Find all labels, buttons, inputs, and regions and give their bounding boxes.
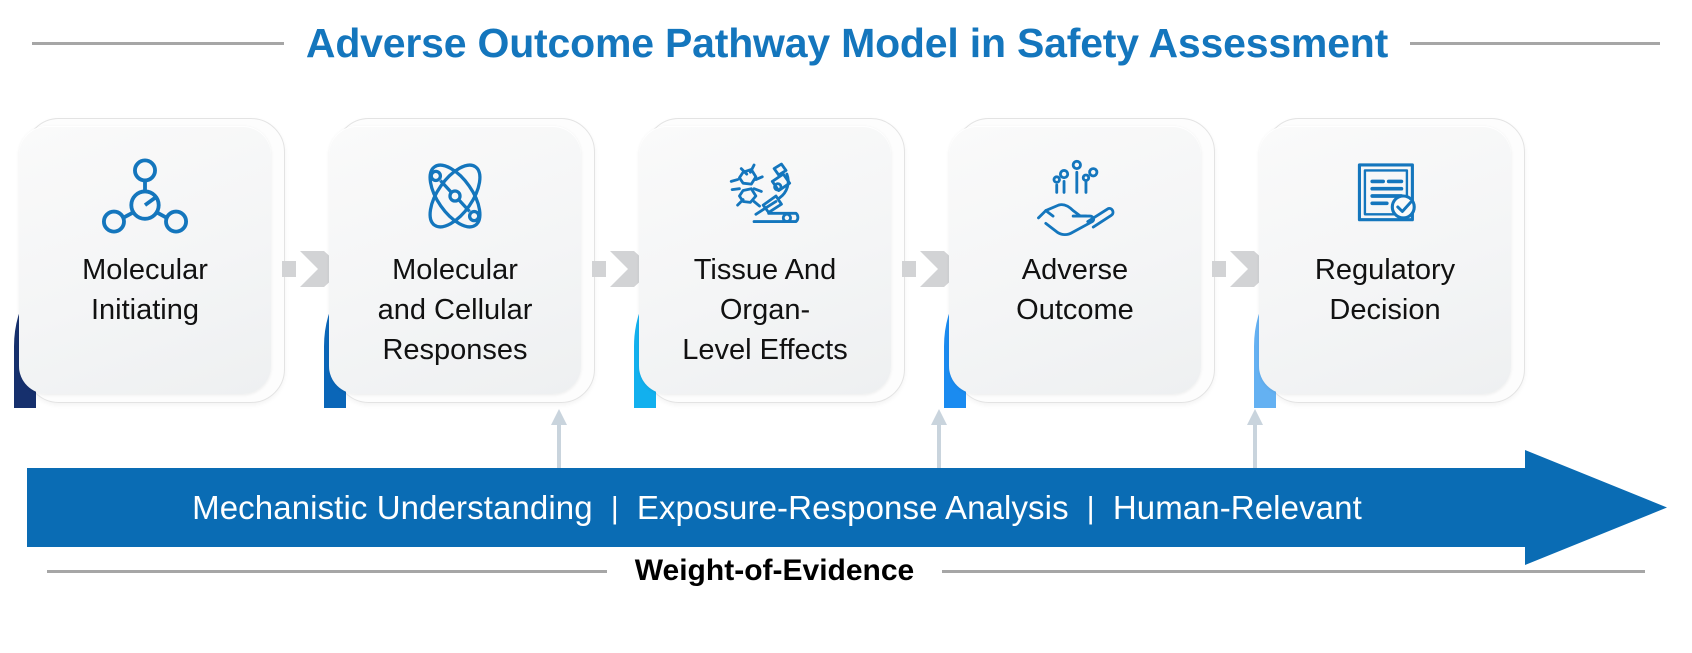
stage-card-regulatory-decision[interactable]: Regulatory Decision (1243, 112, 1526, 408)
microscope-icon (719, 154, 811, 238)
footer-row: Weight-of-Evidence (0, 545, 1692, 597)
page-title: Adverse Outcome Pathway Model in Safety … (306, 23, 1388, 64)
card-label: Molecular and Cellular Responses (347, 250, 563, 370)
certificate-check-icon (1339, 154, 1431, 238)
card-body: Molecular and Cellular Responses (329, 126, 581, 394)
hand-data-icon (1029, 154, 1121, 238)
footer-rule-left (47, 570, 607, 573)
stage-card-adverse-outcome[interactable]: Adverse Outcome (933, 112, 1216, 408)
card-label: Regulatory Decision (1277, 250, 1493, 330)
banner-separator-2: | (1069, 490, 1113, 526)
atom-orbit-icon (409, 154, 501, 238)
footer-rule-right (942, 570, 1645, 573)
stage-card-tissue-organ-effects[interactable]: Tissue And Organ- Level Effects (623, 112, 906, 408)
banner-item-2: Exposure-Response Analysis (637, 489, 1069, 527)
stage-card-molecular-cellular-responses[interactable]: Molecular and Cellular Responses (313, 112, 596, 408)
molecule-icon (99, 154, 191, 238)
title-row: Adverse Outcome Pathway Model in Safety … (0, 12, 1692, 74)
diagram-canvas: Adverse Outcome Pathway Model in Safety … (0, 0, 1692, 653)
card-body: Molecular Initiating (19, 126, 271, 394)
banner-separator-1: | (593, 490, 637, 526)
card-body: Adverse Outcome (949, 126, 1201, 394)
footer-label: Weight-of-Evidence (635, 556, 914, 586)
card-body: Tissue And Organ- Level Effects (639, 126, 891, 394)
stage-card-molecular-initiating[interactable]: Molecular Initiating (3, 112, 286, 408)
card-body: Regulatory Decision (1259, 126, 1511, 394)
card-label: Tissue And Organ- Level Effects (657, 250, 873, 370)
card-label: Adverse Outcome (967, 250, 1183, 330)
title-rule-right (1410, 42, 1660, 45)
title-rule-left (32, 42, 284, 45)
banner-item-3: Human-Relevant (1113, 489, 1362, 527)
banner-item-1: Mechanistic Understanding (192, 489, 593, 527)
card-label: Molecular Initiating (37, 250, 253, 330)
